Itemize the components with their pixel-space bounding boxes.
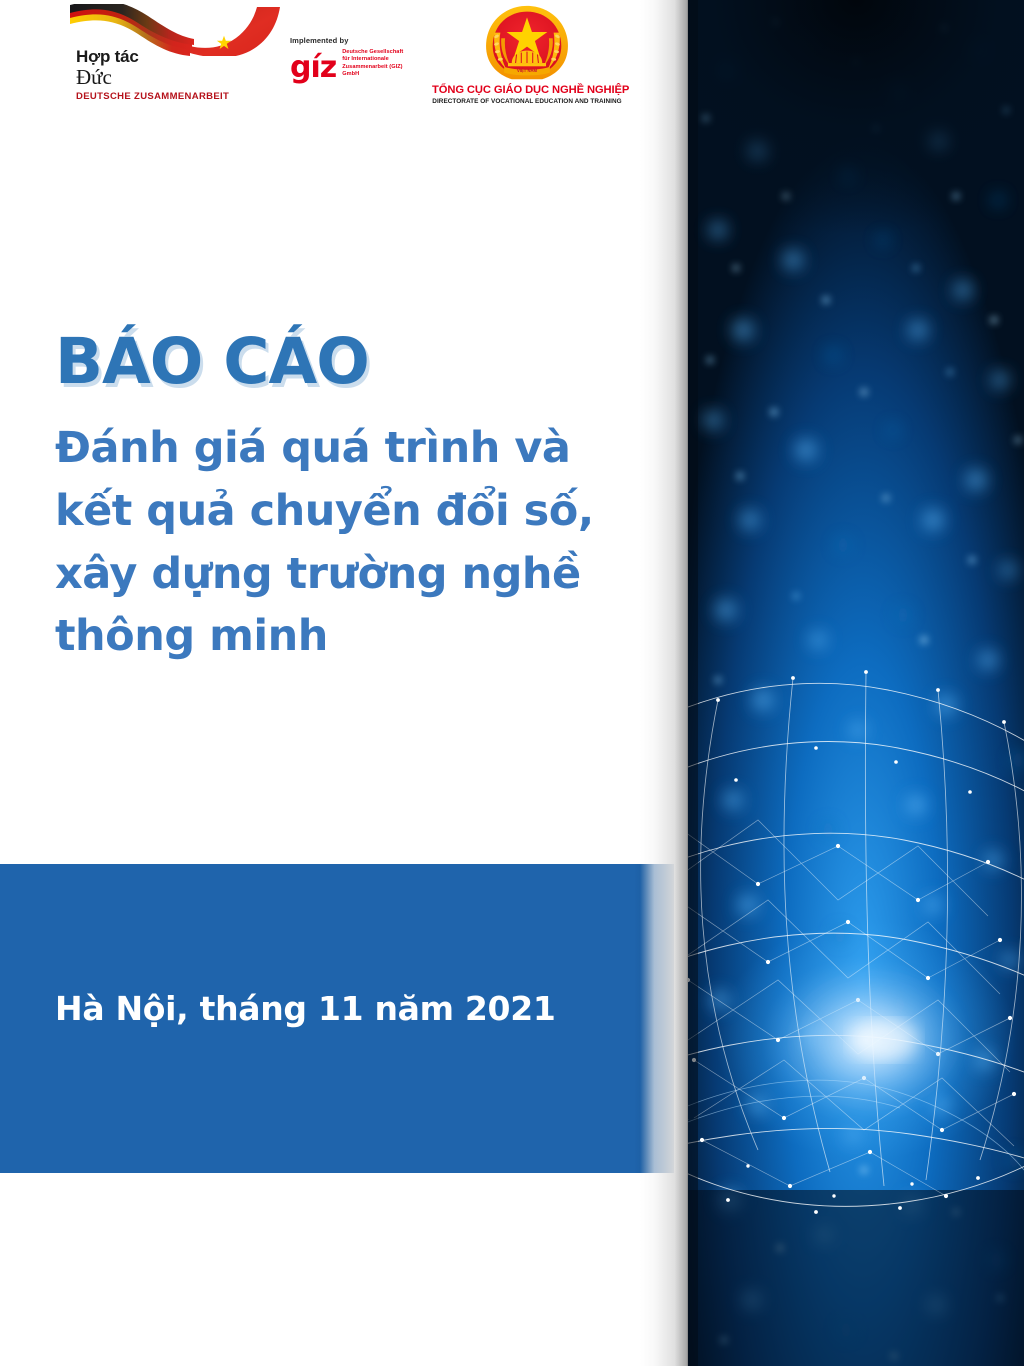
giz-wordmark-row: gíz Deutsche Gesellschaft für Internatio… bbox=[290, 49, 418, 80]
logo-bar: Hợp tác Đức DEUTSCHE ZUSAMMENARBEIT Impl… bbox=[0, 0, 688, 120]
dvet-logo: VIỆT NAM TỔNG CỤC GIÁO DỤC NGHỀ NGHIỆP D… bbox=[432, 4, 622, 114]
report-subtitle: Đánh giá quá trình và kết quả chuyển đổi… bbox=[55, 417, 635, 668]
giz-full-name: Deutsche Gesellschaft für Internationale… bbox=[342, 49, 418, 79]
subtitle-line-1: Đánh giá quá trình và bbox=[55, 417, 635, 480]
subtitle-line-2: kết quả chuyển đổi số, bbox=[55, 480, 635, 543]
german-logo-line3: DEUTSCHE ZUSAMMENARBEIT bbox=[76, 91, 286, 102]
german-logo-line1: Hợp tác bbox=[76, 48, 286, 66]
publication-date: Hà Nội, tháng 11 năm 2021 bbox=[55, 989, 556, 1028]
giz-full-name-line3: Zusammenarbeit (GIZ) GmbH bbox=[342, 64, 418, 79]
cover-left-page: Hợp tác Đức DEUTSCHE ZUSAMMENARBEIT Impl… bbox=[0, 0, 688, 1366]
giz-wordmark: gíz bbox=[290, 56, 336, 79]
footer-blue-band: Hà Nội, tháng 11 năm 2021 bbox=[0, 864, 674, 1173]
cover-image-panel bbox=[688, 0, 1024, 1366]
giz-implemented-by-label: Implemented by bbox=[290, 36, 418, 45]
german-logo-line2: Đức bbox=[76, 66, 286, 88]
band-edge-shadow bbox=[634, 864, 674, 1173]
dvet-title-vi: TỔNG CỤC GIÁO DỤC NGHỀ NGHIỆP bbox=[432, 84, 622, 96]
subtitle-line-3: xây dựng trường nghề bbox=[55, 543, 635, 606]
digital-network-globe-image bbox=[688, 0, 1024, 1366]
report-cover-page: Hợp tác Đức DEUTSCHE ZUSAMMENARBEIT Impl… bbox=[0, 0, 1024, 1366]
svg-text:VIỆT NAM: VIỆT NAM bbox=[517, 68, 538, 73]
title-block: BÁO CÁO Đánh giá quá trình và kết quả ch… bbox=[55, 330, 635, 668]
report-heading: BÁO CÁO bbox=[55, 330, 635, 393]
giz-logo: Implemented by gíz Deutsche Gesellschaft… bbox=[290, 36, 418, 96]
giz-full-name-line2: für Internationale bbox=[342, 56, 418, 63]
subtitle-line-4: thông minh bbox=[55, 605, 635, 668]
giz-full-name-line1: Deutsche Gesellschaft bbox=[342, 49, 418, 56]
german-logo-text: Hợp tác Đức DEUTSCHE ZUSAMMENARBEIT bbox=[76, 48, 286, 102]
vietnam-national-emblem-icon: VIỆT NAM bbox=[432, 4, 622, 84]
german-cooperation-logo: Hợp tác Đức DEUTSCHE ZUSAMMENARBEIT bbox=[58, 4, 293, 116]
dvet-title-en: DIRECTORATE OF VOCATIONAL EDUCATION AND … bbox=[432, 98, 622, 105]
